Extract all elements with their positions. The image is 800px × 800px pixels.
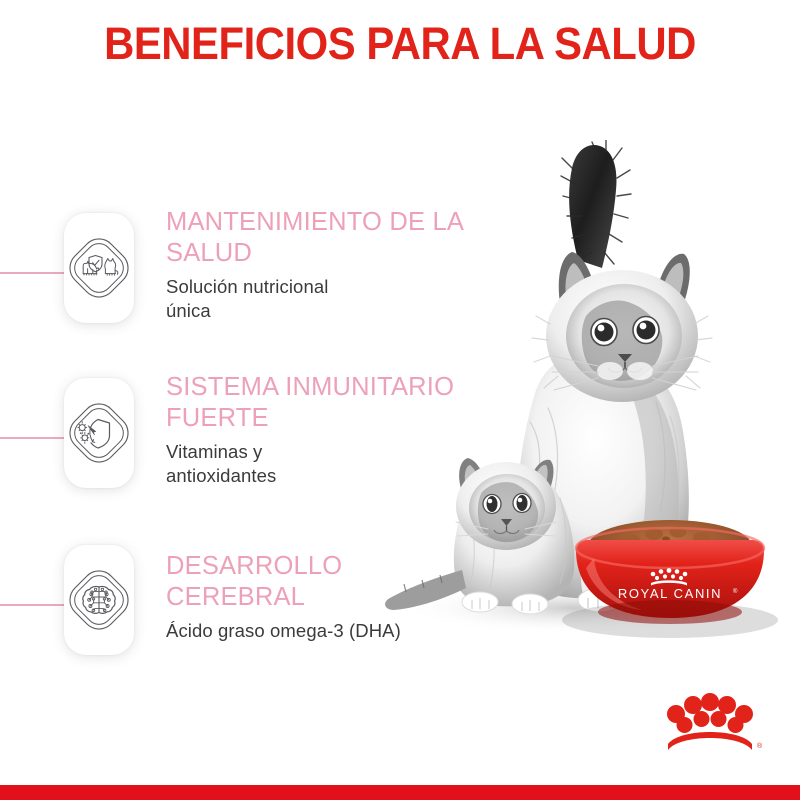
benefit-icon-card <box>64 213 134 323</box>
brain-neurons-icon <box>68 569 130 631</box>
shield-germ-defense-icon <box>68 402 130 464</box>
shield-cat-dog-icon <box>68 237 130 299</box>
connector-line <box>0 437 66 439</box>
page-title: BENEFICIOS PARA LA SALUD <box>28 20 772 67</box>
bowl-trademark: ® <box>733 588 738 595</box>
benefit-icon-card <box>64 545 134 655</box>
bottom-red-bar <box>0 785 800 800</box>
logo-trademark: ® <box>757 742 763 750</box>
bowl-brand-text: ROYAL CANIN <box>618 586 722 601</box>
royal-canin-crown-logo: ® <box>650 688 770 760</box>
benefit-icon-card <box>64 378 134 488</box>
cat-photo: ROYAL CANIN ® <box>370 140 800 670</box>
connector-line <box>0 272 66 274</box>
poster-root: BENEFICIOS PARA LA SALUD <box>0 0 800 800</box>
connector-line <box>0 604 66 606</box>
